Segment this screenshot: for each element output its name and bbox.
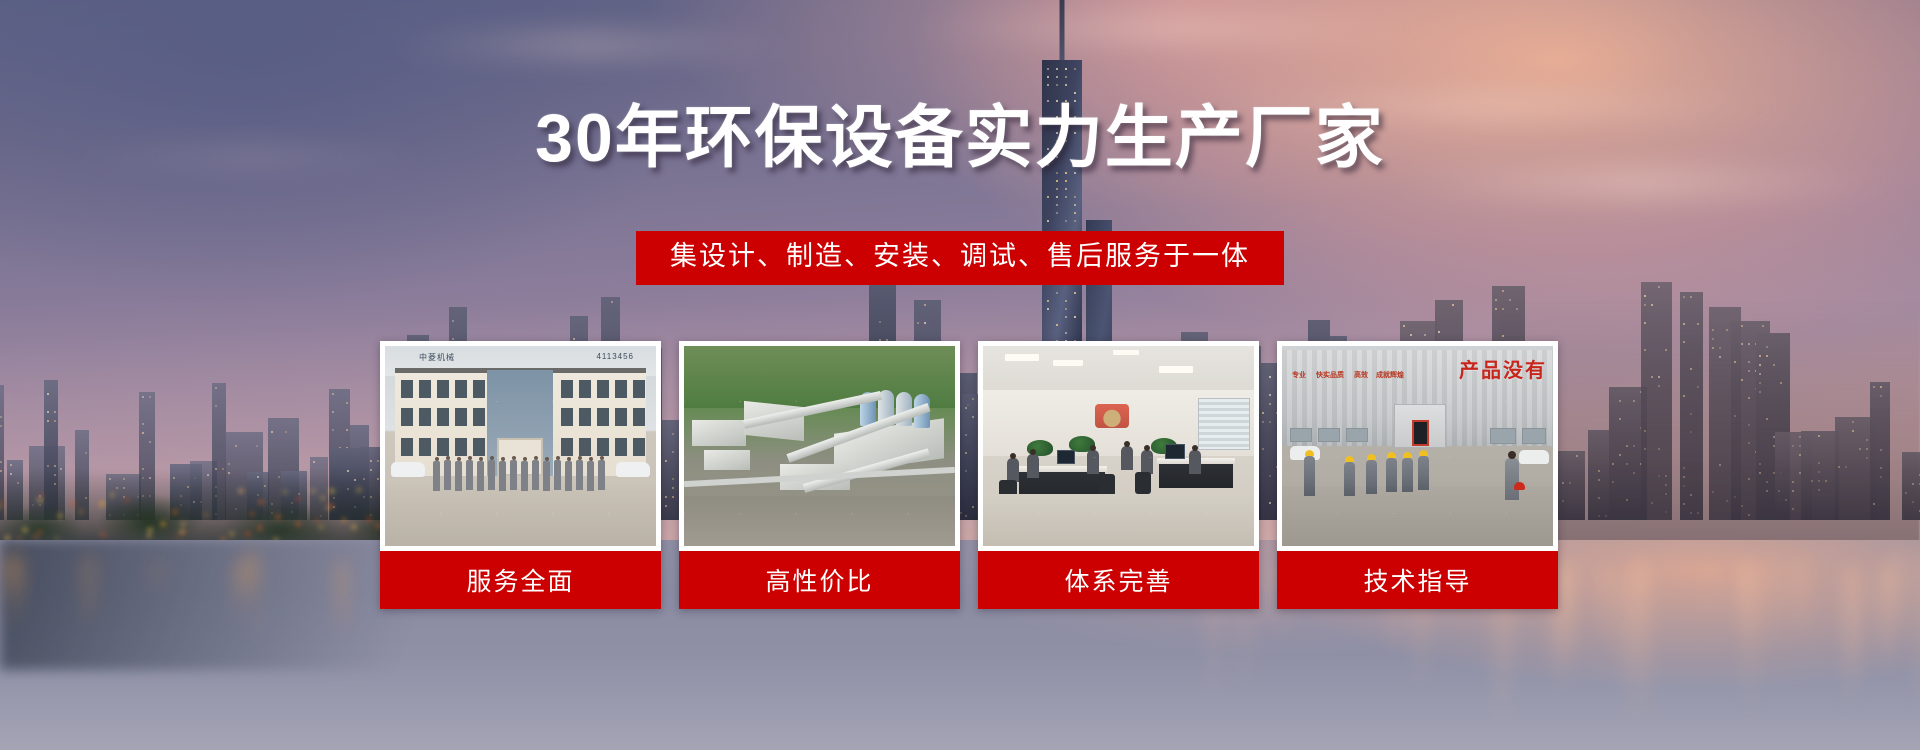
workshop-technical-training-photo: 产品没有 专业 快实品质 高效 成就辉煌	[1282, 346, 1553, 546]
photo-window	[579, 438, 591, 456]
photo-window	[597, 408, 609, 426]
page-title: 30年环保设备实力生产厂家	[0, 104, 1920, 172]
photo-person	[466, 460, 473, 490]
aerial-factory-plant-photo	[684, 346, 955, 546]
photo-window	[473, 408, 485, 426]
feature-card-list: 中菱机械 4113456 服务全面	[380, 341, 1540, 611]
photo-window	[401, 438, 413, 456]
photo-person	[587, 461, 594, 491]
photo-window	[561, 408, 573, 426]
office-interior-staff-photo	[983, 346, 1254, 546]
photo-window	[401, 408, 413, 426]
photo-window	[633, 380, 645, 398]
photo-company-sign: 中菱机械	[419, 352, 455, 363]
photo-person	[521, 461, 528, 491]
photo-person	[488, 460, 495, 490]
photo-window	[561, 438, 573, 456]
photo-person	[444, 460, 451, 490]
photo-window	[597, 438, 609, 456]
photo-window	[455, 380, 467, 398]
photo-window	[437, 380, 449, 398]
photo-window	[579, 380, 591, 398]
photo-window	[597, 380, 609, 398]
subtitle-bar-wrap: 集设计、制造、安装、调试、售后服务于一体	[0, 231, 1920, 285]
photo-window	[561, 380, 573, 398]
feature-card-label: 服务全面	[380, 551, 661, 609]
photo-window	[401, 380, 413, 398]
subtitle-badge: 集设计、制造、安装、调试、售后服务于一体	[636, 231, 1284, 285]
photo-wall-banner: 产品没有	[1459, 354, 1547, 383]
feature-card-label: 技术指导	[1277, 551, 1558, 609]
feature-card[interactable]: 产品没有 专业 快实品质 高效 成就辉煌	[1277, 341, 1558, 609]
photo-person	[499, 461, 506, 491]
photo-phone-number: 4113456	[596, 352, 634, 361]
photo-window	[437, 408, 449, 426]
feature-card[interactable]: 中菱机械 4113456 服务全面	[380, 341, 661, 609]
photo-window	[455, 408, 467, 426]
photo-slogan: 快实品质	[1316, 372, 1344, 381]
photo-person	[576, 460, 583, 490]
photo-window	[419, 408, 431, 426]
photo-window	[579, 408, 591, 426]
feature-card-label: 高性价比	[679, 551, 960, 609]
photo-person	[532, 460, 539, 490]
photo-window	[437, 438, 449, 456]
photo-window	[473, 380, 485, 398]
photo-window	[455, 438, 467, 456]
photo-person	[554, 460, 561, 490]
photo-person	[543, 461, 550, 491]
photo-slogan: 成就辉煌	[1376, 372, 1404, 381]
photo-slogan: 高效	[1354, 372, 1368, 381]
photo-person	[433, 461, 440, 491]
photo-person	[477, 461, 484, 491]
feature-card[interactable]: 体系完善	[978, 341, 1259, 609]
photo-window	[633, 408, 645, 426]
photo-slogan: 专业	[1292, 372, 1306, 381]
photo-window	[473, 438, 485, 456]
photo-window	[633, 438, 645, 456]
office-building-staff-photo: 中菱机械 4113456	[385, 346, 656, 546]
photo-person	[598, 460, 605, 490]
photo-person	[510, 460, 517, 490]
photo-window	[419, 438, 431, 456]
photo-window	[615, 408, 627, 426]
photo-person	[455, 461, 462, 491]
photo-window	[615, 380, 627, 398]
feature-card[interactable]: 高性价比	[679, 341, 960, 609]
feature-card-label: 体系完善	[978, 551, 1259, 609]
photo-person	[565, 461, 572, 491]
photo-window	[615, 438, 627, 456]
photo-window	[419, 380, 431, 398]
